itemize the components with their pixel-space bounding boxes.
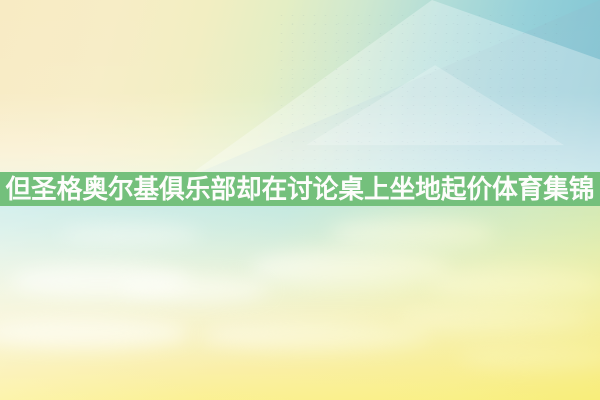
banner-image: 但圣格奥尔基俱乐部却在讨论桌上坐地起价体育集锦: [0, 0, 600, 400]
headline-text: 但圣格奥尔基俱乐部却在讨论桌上坐地起价体育集锦: [5, 176, 594, 202]
lower-sky-panel: [0, 206, 600, 400]
upper-gradient-panel: [0, 0, 600, 186]
lower-warm-overlay: [0, 206, 600, 400]
headline-band: 但圣格奥尔基俱乐部却在讨论桌上坐地起价体育集锦: [0, 172, 600, 206]
upper-fade-overlay: [0, 0, 600, 186]
